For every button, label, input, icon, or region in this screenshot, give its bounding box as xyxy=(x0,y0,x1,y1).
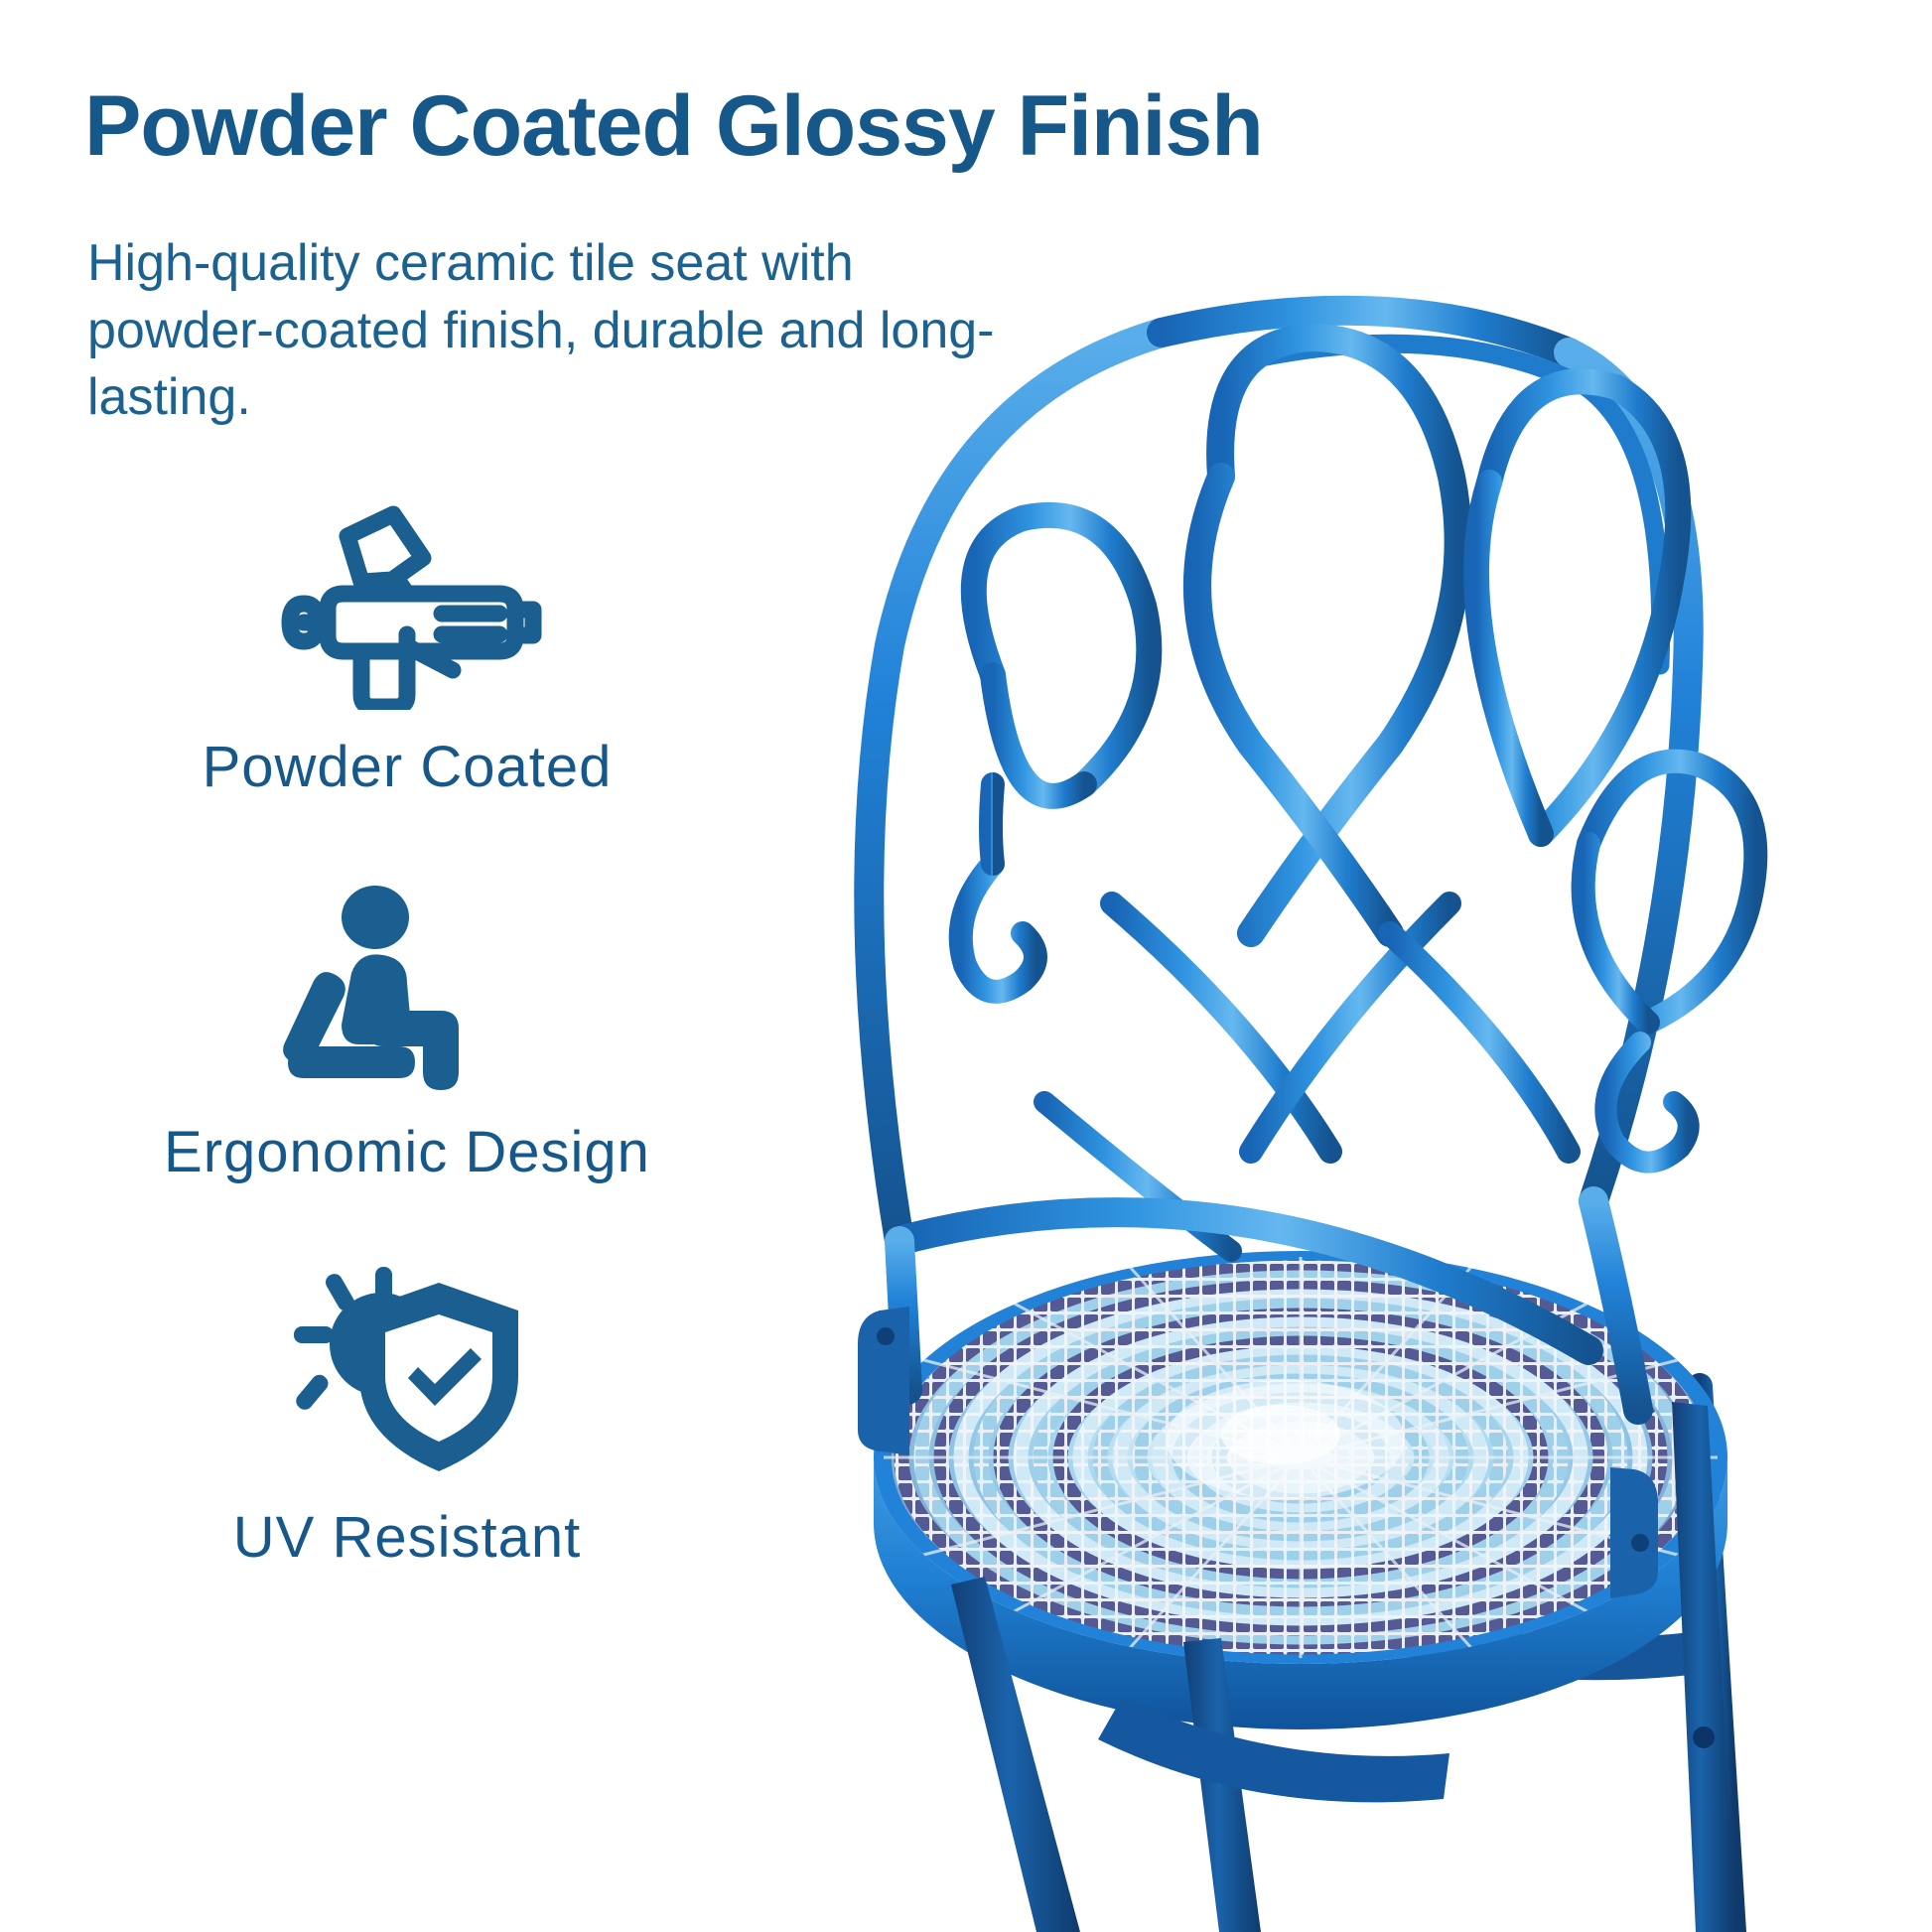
product-image-folding-bistro-chair xyxy=(695,149,1932,1932)
backrest-scrollwork xyxy=(869,311,1755,1410)
product-feature-banner: Powder Coated Glossy Finish High-quality… xyxy=(0,0,1932,1932)
feature-label: Powder Coated xyxy=(60,734,755,800)
feature-item-uv-resistant: UV Resistant xyxy=(60,1267,755,1571)
feature-item-powder-coated: Powder Coated xyxy=(60,496,755,800)
feature-label: Ergonomic Design xyxy=(60,1119,755,1185)
feature-label: UV Resistant xyxy=(60,1504,755,1571)
sun-shield-check-icon xyxy=(60,1267,755,1480)
feature-list: Powder Coated Ergonomic Design xyxy=(60,496,755,1571)
spray-gun-icon xyxy=(60,496,755,710)
feature-item-ergonomic-design: Ergonomic Design xyxy=(60,882,755,1185)
seated-person-icon xyxy=(60,882,755,1095)
